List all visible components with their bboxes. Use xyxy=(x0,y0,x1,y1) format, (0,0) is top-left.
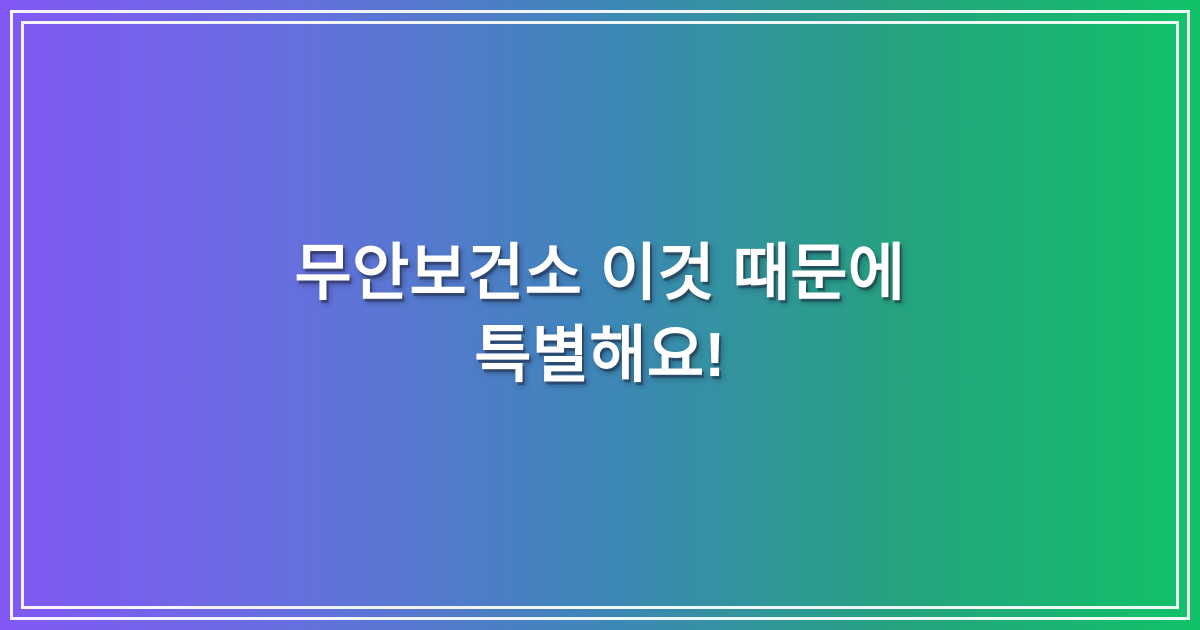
headline-line-1: 무안보건소 이것 때문에 xyxy=(295,233,906,315)
headline-line-2: 특별해요! xyxy=(295,315,906,397)
headline-container: 무안보건소 이것 때문에 특별해요! xyxy=(0,0,1200,630)
social-card-banner: 무안보건소 이것 때문에 특별해요! xyxy=(0,0,1200,630)
page-title: 무안보건소 이것 때문에 특별해요! xyxy=(295,233,906,398)
